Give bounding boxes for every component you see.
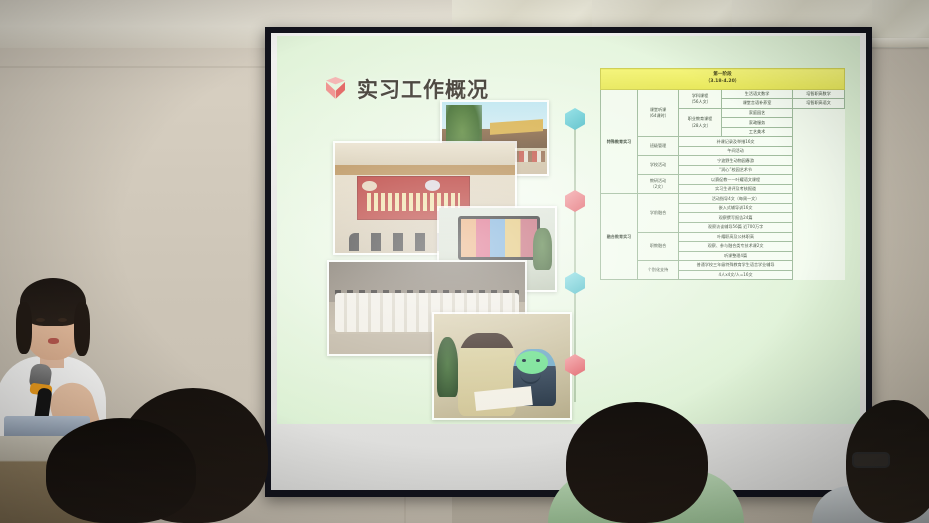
stage-cell: 特殊教育实习 bbox=[601, 89, 638, 194]
marker-teal-2 bbox=[565, 272, 585, 294]
screenshot-root: 实习工作概况 bbox=[0, 0, 929, 523]
audience-head-left bbox=[46, 418, 196, 523]
table-row: 个别化支持普通学校三年级特殊教育学生语言学业辅导 bbox=[601, 261, 845, 271]
subgroup-cell: 学科课程（56人文） bbox=[679, 89, 722, 108]
presenter-eye-left bbox=[36, 318, 45, 322]
table-header-cell: 第一阶段（3.18-4.20） bbox=[601, 69, 845, 90]
detail-cell: 培智职高语文 bbox=[793, 99, 845, 109]
presenter-hair-left bbox=[16, 302, 32, 354]
detail-cell: 叶耀职高及公林职高 bbox=[679, 232, 793, 242]
detail-cell: 以赛促教——叶耀语文课程 bbox=[679, 175, 793, 185]
detail-cell: 普通学校三年级特殊教育学生语言学业辅导 bbox=[679, 261, 793, 271]
detail-cell: 活动指导4文（每周一文） bbox=[679, 194, 793, 204]
detail-cell: 嵌入式辅导训16文 bbox=[679, 203, 793, 213]
photo-teacher-with-child bbox=[432, 312, 572, 420]
presenter-eye-right bbox=[58, 318, 67, 322]
category-cell: 教研活动（2文） bbox=[638, 175, 679, 194]
detail-cell: 家政服务 bbox=[722, 118, 793, 128]
table-row: 学校活动宁波野生动物园春游 bbox=[601, 156, 845, 166]
detail-cell: “润心”校园艺术节 bbox=[679, 165, 793, 175]
detail-cell: 4人x4文/人=16文 bbox=[679, 270, 793, 280]
detail-cell: 补课记录及举措16文 bbox=[679, 137, 793, 147]
marker-pink-1 bbox=[565, 190, 585, 212]
detail-cell: 家庭园艺 bbox=[722, 108, 793, 118]
detail-cell: 听课整理4篇 bbox=[679, 251, 793, 261]
eyeglasses bbox=[852, 452, 890, 468]
table-row: 教研活动（2文）以赛促教——叶耀语文课程 bbox=[601, 175, 845, 185]
audience-green-shirt-center bbox=[566, 402, 708, 523]
internship-schedule-table: 第一阶段（3.18-4.20）特殊教育实习课堂听课（64课时）学科课程（56人文… bbox=[600, 68, 845, 280]
detail-cell: 观察撰写报告24篇 bbox=[679, 213, 793, 223]
red-cube-icon bbox=[324, 77, 348, 101]
category-cell: 课堂听课（64课时） bbox=[638, 89, 679, 137]
category-cell: 学校活动 bbox=[638, 156, 679, 175]
category-cell: 职教融合 bbox=[638, 232, 679, 261]
table-row: 融合教育实习学前融合活动指导4文（每周一文） bbox=[601, 194, 845, 204]
category-cell: 个别化支持 bbox=[638, 261, 679, 280]
category-cell: 学前融合 bbox=[638, 194, 679, 232]
detail-cell: 观察、参与融合类专技术课2文 bbox=[679, 242, 793, 252]
table-row: 班级管理补课记录及举措16文 bbox=[601, 137, 845, 147]
projected-slide: 实习工作概况 bbox=[277, 36, 860, 424]
detail-cell: 观察访谈辅导56篇 近700万字 bbox=[679, 223, 793, 233]
detail-cell: 生活语文数学 bbox=[722, 89, 793, 99]
detail-cell: 工艺美术 bbox=[722, 127, 793, 137]
subgroup-cell: 职业教育课程（28人文） bbox=[679, 108, 722, 137]
table-row: 特殊教育实习课堂听课（64课时）学科课程（56人文）生活语文数学培智职高数学 bbox=[601, 89, 845, 99]
detail-cell: 课堂言语补养室 bbox=[722, 99, 793, 109]
stage-cell: 融合教育实习 bbox=[601, 194, 638, 280]
marker-teal-1 bbox=[565, 108, 585, 130]
table-header-row: 第一阶段（3.18-4.20） bbox=[601, 69, 845, 90]
marker-pink-2 bbox=[565, 354, 585, 376]
table-row: 职教融合叶耀职高及公林职高 bbox=[601, 232, 845, 242]
detail-cell: 午间活动 bbox=[679, 146, 793, 156]
presenter-mouth bbox=[48, 338, 59, 344]
detail-cell: 宁波野生动物园春游 bbox=[679, 156, 793, 166]
detail-cell: 培智职高数学 bbox=[793, 89, 845, 99]
category-cell: 班级管理 bbox=[638, 137, 679, 156]
detail-cell: 实习生讲评及考核报道 bbox=[679, 184, 793, 194]
presenter-hair-right bbox=[74, 302, 90, 356]
